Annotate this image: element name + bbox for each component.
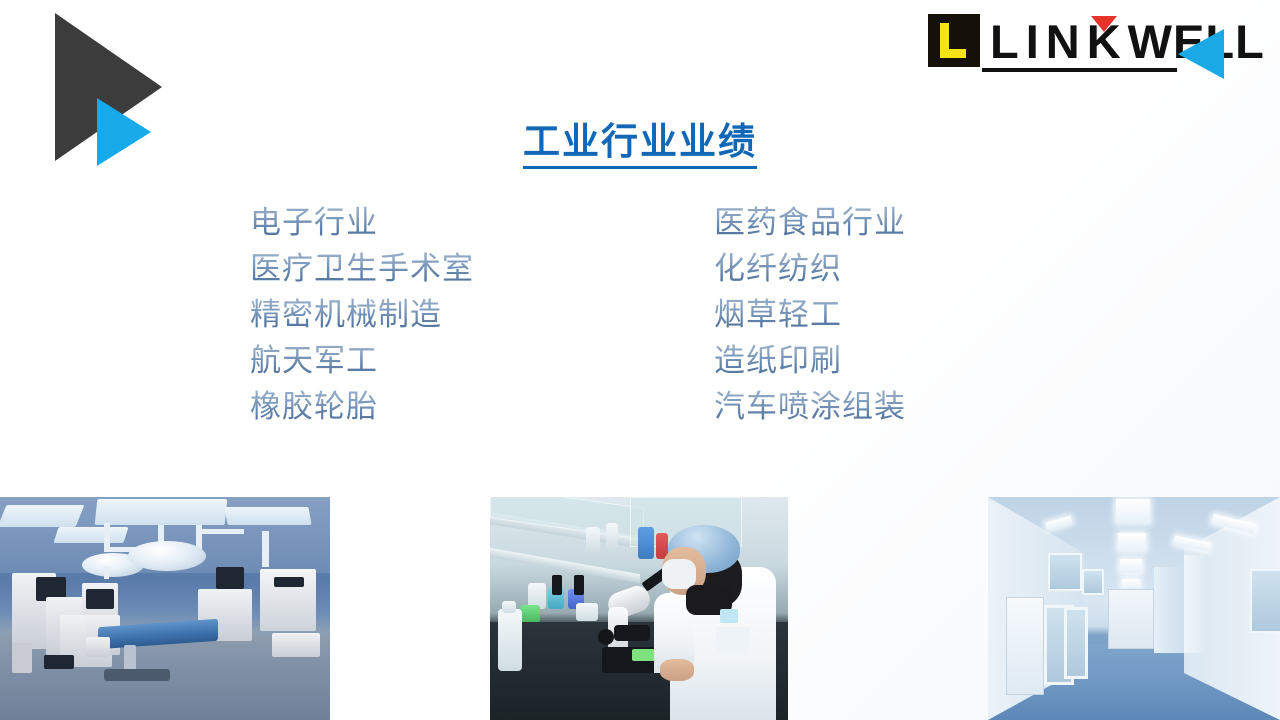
list-item: 烟草轻工 [714,292,906,338]
photo-operating-room [0,497,330,720]
industry-list-left: 电子行业 医疗卫生手术室 精密机械制造 航天军工 橡胶轮胎 [250,200,474,430]
page-title: 工业行业业绩 [0,120,1280,169]
list-item: 橡胶轮胎 [250,384,474,430]
list-item: 精密机械制造 [250,292,474,338]
list-item: 电子行业 [250,200,474,246]
list-item: 造纸印刷 [714,338,906,384]
photo-operating-room-art [0,497,330,720]
logo-letter-l-icon [940,23,966,58]
logo-underline [982,68,1177,72]
industry-list-right: 医药食品行业 化纤纺织 烟草轻工 造纸印刷 汽车喷涂组装 [714,200,906,430]
blue-triangle-icon [1178,29,1224,79]
list-item: 化纤纺织 [714,246,906,292]
company-logo: LINKWELL [928,14,1238,76]
photo-cleanroom [988,497,1280,720]
list-item: 汽车喷涂组装 [714,384,906,430]
industry-lists: 电子行业 医疗卫生手术室 精密机械制造 航天军工 橡胶轮胎 医药食品行业 化纤纺… [0,200,1280,440]
photo-laboratory [490,497,788,720]
photo-laboratory-art [490,497,788,720]
page-title-text: 工业行业业绩 [523,120,757,169]
photo-cleanroom-art [988,497,1280,720]
slide-root: LINKWELL 工业行业业绩 电子行业 医疗卫生手术室 精密机械制造 航天军工… [0,0,1280,720]
list-item: 医疗卫生手术室 [250,246,474,292]
logo-mark-block [928,14,980,67]
list-item: 医药食品行业 [714,200,906,246]
list-item: 航天军工 [250,338,474,384]
red-triangle-icon [1091,16,1117,32]
